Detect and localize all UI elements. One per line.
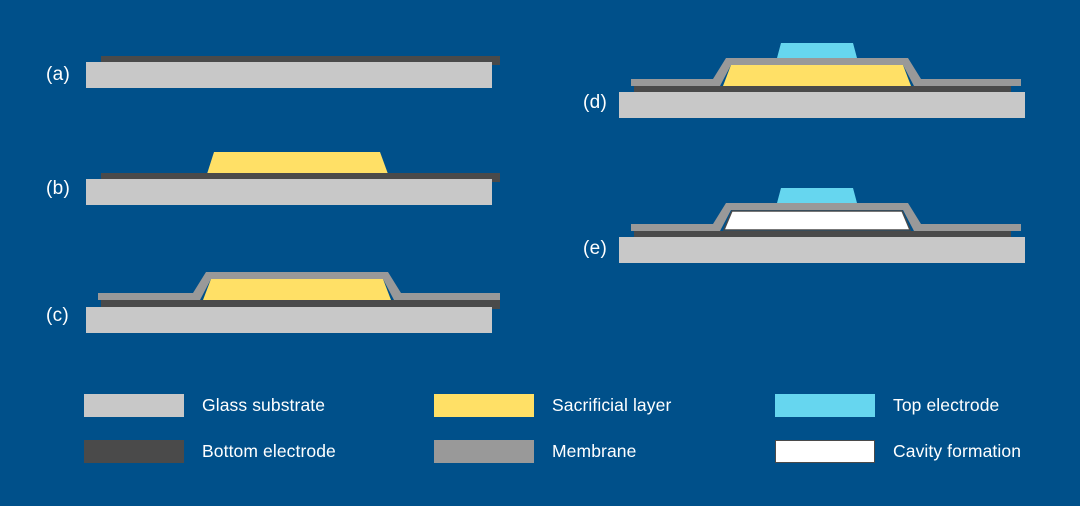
legend-label-glass-substrate: Glass substrate [202,395,325,416]
top-electrode-trapezoid [777,188,857,203]
legend-label-cavity-formation: Cavity formation [893,441,1021,462]
legend-swatch-sacrificial-layer [434,394,534,417]
legend-item-sacrificial-layer: Sacrificial layer [434,394,671,417]
sacrificial-layer-trapezoid [203,279,391,300]
glass-substrate-layer [86,179,492,205]
glass-substrate-layer [86,62,492,88]
legend-label-membrane: Membrane [552,441,636,462]
legend-swatch-bottom-electrode [84,440,184,463]
glass-substrate-layer [86,307,492,333]
panel-label-e: (e) [583,238,607,260]
panel-d-cross-section [613,30,1033,125]
panel-e-cross-section [613,175,1033,270]
legend-item-membrane: Membrane [434,440,636,463]
panel-a-cross-section [80,40,500,100]
cavity-formation-region [724,211,910,230]
panel-label-c: (c) [46,305,69,327]
process-flow-figure: (a) (b) (c) (d) [0,0,1080,506]
legend: Glass substrate Bottom electrode Sacrifi… [0,372,1080,482]
sacrificial-layer-trapezoid [723,65,911,86]
legend-label-top-electrode: Top electrode [893,395,999,416]
legend-swatch-top-electrode [775,394,875,417]
sacrificial-layer-trapezoid [207,152,388,174]
legend-label-bottom-electrode: Bottom electrode [202,441,336,462]
glass-substrate-layer [619,237,1025,263]
panel-label-a: (a) [46,64,70,86]
legend-swatch-cavity-formation [775,440,875,463]
legend-item-cavity-formation: Cavity formation [775,440,1021,463]
legend-label-sacrificial-layer: Sacrificial layer [552,395,671,416]
panel-b-cross-section [80,140,500,210]
panel-label-d: (d) [583,92,607,114]
legend-item-glass-substrate: Glass substrate [84,394,325,417]
glass-substrate-layer [619,92,1025,118]
legend-swatch-membrane [434,440,534,463]
legend-item-top-electrode: Top electrode [775,394,999,417]
panel-label-b: (b) [46,178,70,200]
legend-item-bottom-electrode: Bottom electrode [84,440,336,463]
panel-c-cross-section [80,258,500,338]
legend-swatch-glass-substrate [84,394,184,417]
top-electrode-trapezoid [777,43,857,58]
